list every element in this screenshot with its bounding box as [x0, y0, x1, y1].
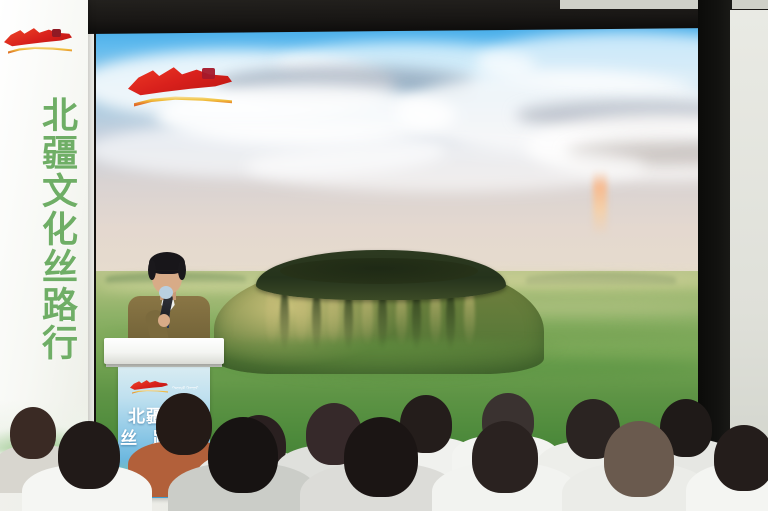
rainbow: [593, 170, 607, 236]
cloud: [246, 142, 646, 192]
ceiling-lip: [560, 0, 768, 9]
audience-head: [10, 407, 56, 459]
audience-head: [714, 425, 768, 491]
volcano-gully: [280, 288, 289, 350]
lectern-top: [104, 338, 224, 364]
emblem-icon: [52, 29, 61, 37]
screen-sky: [96, 22, 732, 281]
volcano-crater: [214, 244, 544, 374]
audience-head: [472, 421, 538, 493]
emblem-icon: [202, 68, 215, 79]
audience-head: [156, 393, 212, 455]
ribbon-icon: [134, 94, 232, 110]
volcano-ridge: [266, 286, 277, 346]
glasses-icon: [153, 270, 181, 278]
seated-audience: [0, 371, 768, 511]
screenshot-root: 北疆文化丝路行 ᠬᠣᠶᠢᠲᠤ ᠬᠢᠵᠠᠭᠠᠷ 北疆文化 丝 路 行: [0, 0, 768, 511]
presenter-hand: [158, 314, 170, 327]
screen-logo: [128, 64, 244, 118]
banner-logo: [4, 26, 76, 60]
audience-head: [58, 421, 120, 489]
audience-head: [604, 421, 674, 497]
microphone-head: [159, 286, 173, 299]
crater-interior: [280, 258, 478, 284]
banner-title: 北疆文化丝路行: [10, 96, 76, 362]
presenter: [126, 252, 212, 352]
audience-head: [344, 417, 418, 497]
audience-head: [208, 417, 278, 493]
ribbon-icon: [8, 45, 72, 56]
